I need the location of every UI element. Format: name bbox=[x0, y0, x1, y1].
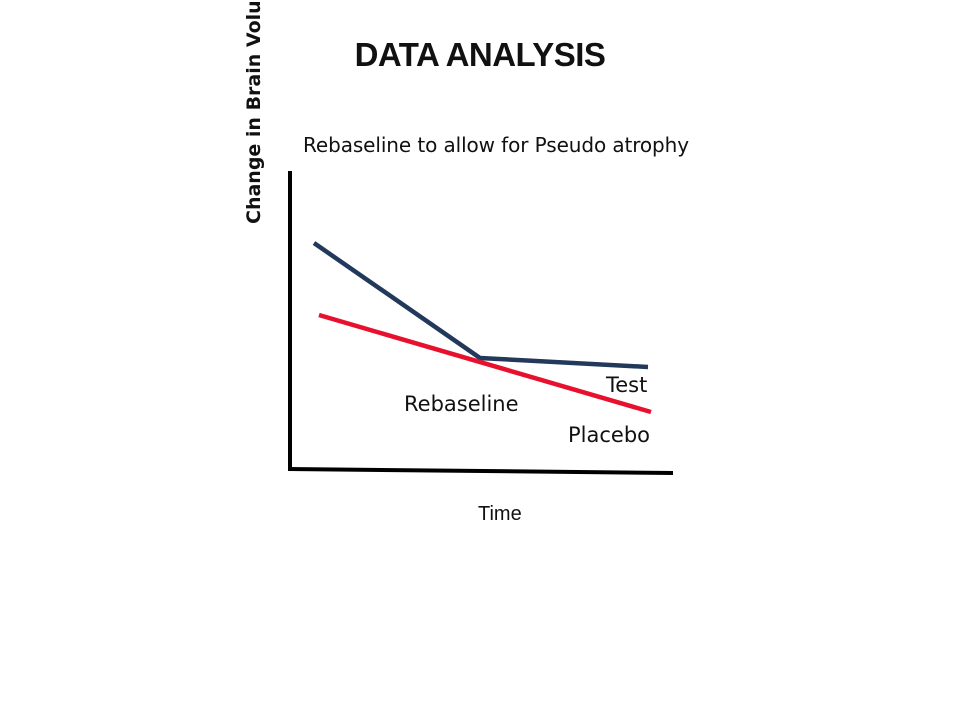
series-label-test: Test bbox=[606, 373, 647, 397]
line-chart: Rebaseline to allow for Pseudo atrophy C… bbox=[0, 0, 960, 720]
x-axis-label: Time bbox=[478, 503, 522, 526]
series-line-test bbox=[314, 243, 648, 367]
y-axis-label: Change in Brain Volume bbox=[243, 0, 269, 224]
chart-plot-svg bbox=[0, 0, 960, 720]
series-label-placebo: Placebo bbox=[568, 423, 650, 447]
x-axis-line bbox=[288, 469, 673, 473]
chart-title: Rebaseline to allow for Pseudo atrophy bbox=[303, 133, 689, 157]
slide-canvas: DATA ANALYSIS Rebaseline to allow for Ps… bbox=[0, 0, 960, 720]
annotation-rebaseline: Rebaseline bbox=[404, 392, 519, 416]
